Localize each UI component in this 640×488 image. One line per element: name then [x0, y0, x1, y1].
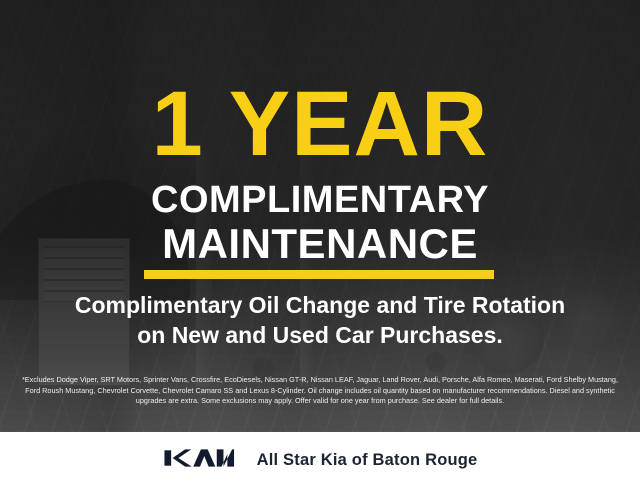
headline-primary: 1 YEAR [0, 78, 640, 170]
dealer-name-label: All Star Kia of Baton Rouge [257, 451, 478, 470]
disclaimer-text: *Excludes Dodge Viper, SRT Motors, Sprin… [14, 375, 626, 407]
footer-bar: All Star Kia of Baton Rouge [0, 432, 640, 488]
banner-content: 1 YEAR COMPLIMENTARY MAINTENANCE Complim… [0, 0, 640, 432]
subheadline: Complimentary Oil Change and Tire Rotati… [30, 290, 610, 350]
accent-divider-rule [144, 270, 494, 279]
headline-tertiary: MAINTENANCE [0, 222, 640, 266]
subheadline-line-2: on New and Used Car Purchases. [30, 320, 610, 350]
headline-secondary: COMPLIMENTARY [0, 180, 640, 220]
kia-logo-icon [163, 446, 235, 475]
promotional-banner: 1 YEAR COMPLIMENTARY MAINTENANCE Complim… [0, 0, 640, 488]
subheadline-line-1: Complimentary Oil Change and Tire Rotati… [30, 290, 610, 320]
hero-section: 1 YEAR COMPLIMENTARY MAINTENANCE Complim… [0, 0, 640, 432]
